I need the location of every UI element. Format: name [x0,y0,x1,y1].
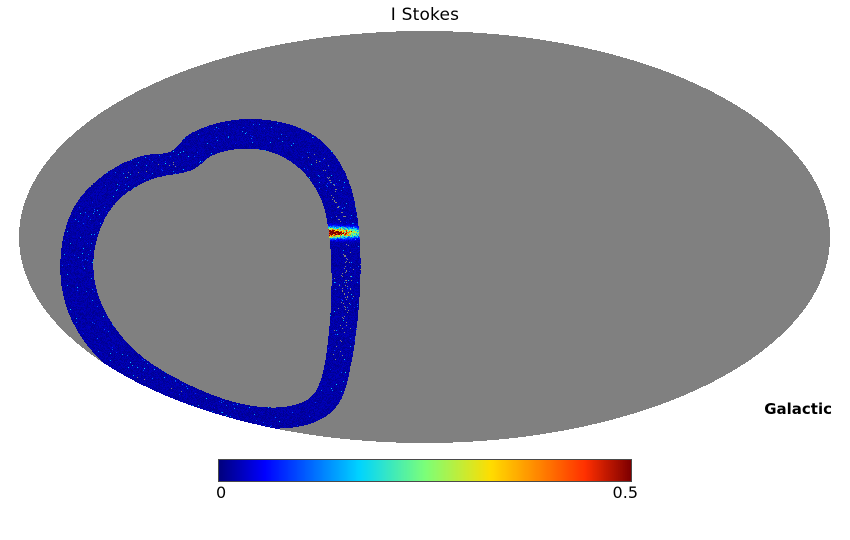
colorbar-max-tick-label: 0.5 [612,483,638,502]
colorbar-min-tick-label: 0 [216,483,226,502]
colorbar[interactable] [218,459,632,482]
sky-map-mollweide[interactable] [19,31,830,443]
figure-canvas: I Stokes Galactic 0 0.5 [0,0,850,540]
page-title: I Stokes [0,4,850,26]
sky-map-canvas[interactable] [19,31,830,443]
colorbar-gradient[interactable] [218,459,632,482]
coordinate-system-label: Galactic [764,400,832,418]
